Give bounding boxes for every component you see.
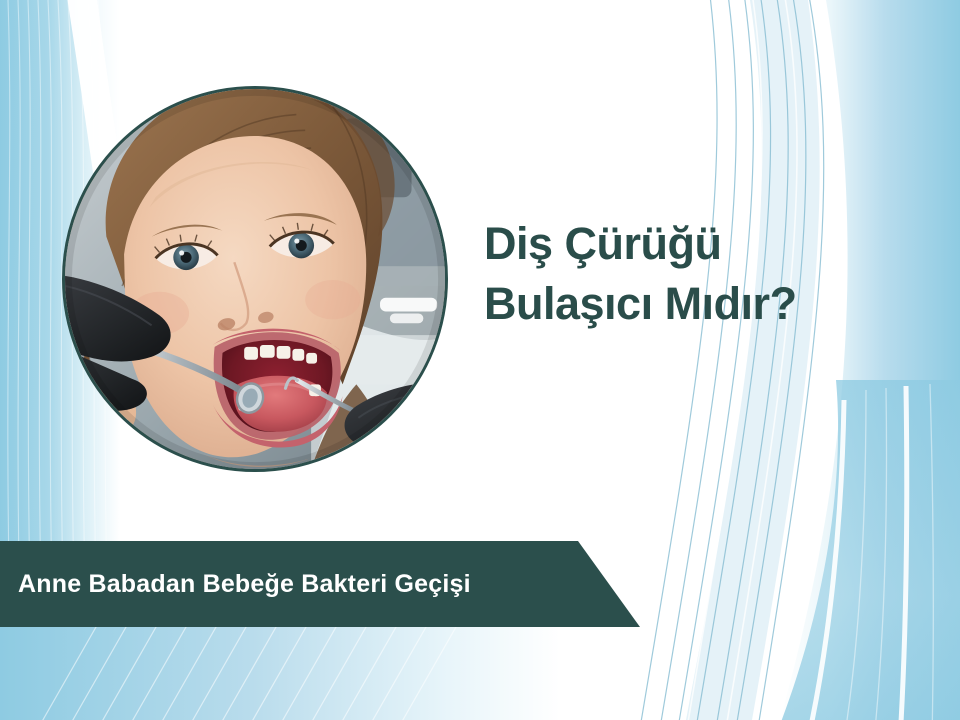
page-title: Diş Çürüğü Bulaşıcı Mıdır? — [484, 214, 904, 334]
title-line-2: Bulaşıcı Mıdır? — [484, 274, 904, 334]
right-wave-decoration — [630, 0, 960, 720]
subtitle-banner: Anne Babadan Bebeğe Bakteri Geçişi — [0, 541, 640, 627]
subtitle-banner-label: Anne Babadan Bebeğe Bakteri Geçişi — [18, 570, 471, 599]
bottom-striped-field-decoration — [0, 625, 560, 720]
title-line-1: Diş Çürüğü — [484, 214, 904, 274]
poster-canvas: Diş Çürüğü Bulaşıcı Mıdır? Anne Babadan … — [0, 0, 960, 720]
child-at-dentist-photo — [62, 86, 448, 472]
